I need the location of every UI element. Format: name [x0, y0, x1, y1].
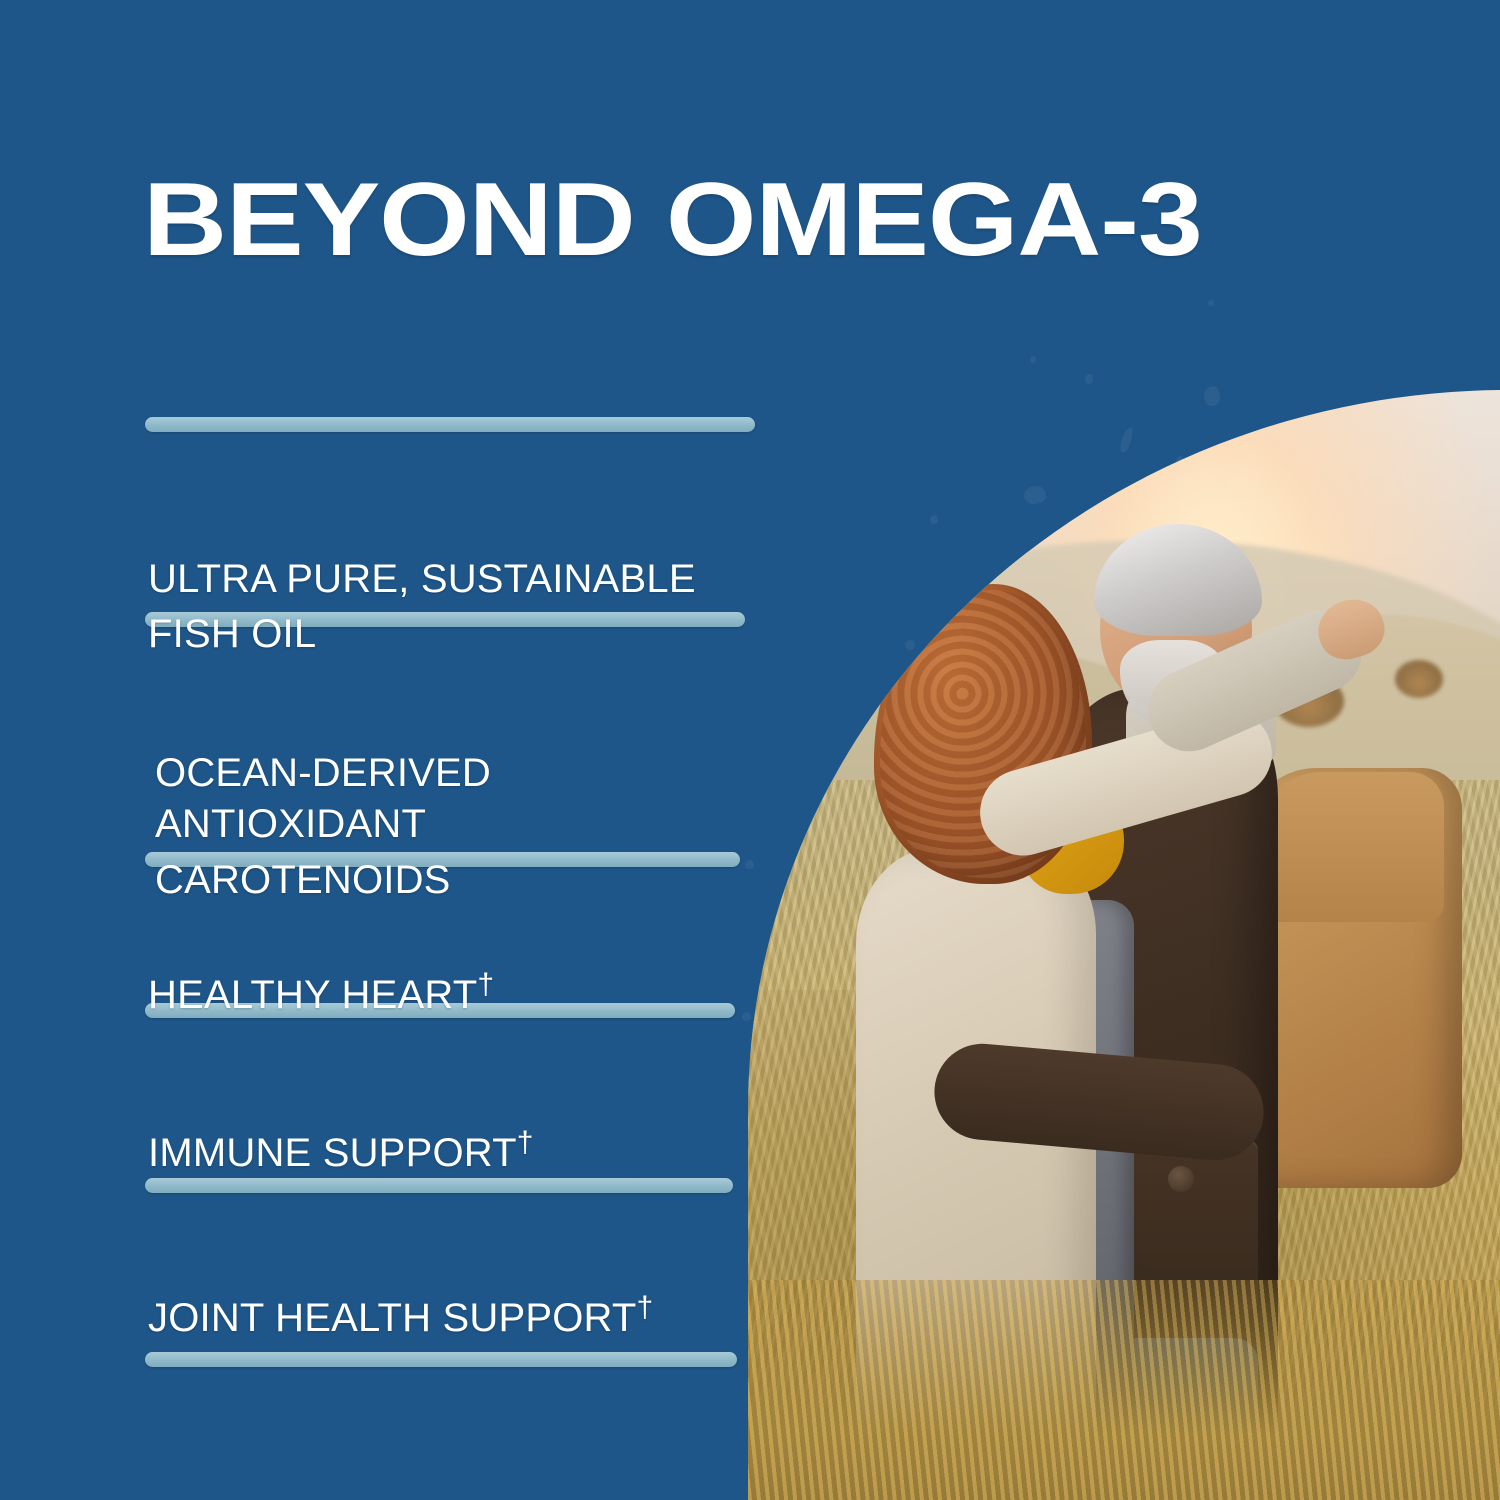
benefit-label: OCEAN-DERIVED ANTIOXIDANT CAROTENOIDS: [155, 751, 491, 901]
dagger-symbol: †: [477, 968, 494, 1001]
benefit-label: ULTRA PURE, SUSTAINABLE FISH OIL: [148, 557, 696, 656]
benefit-label: IMMUNE SUPPORT: [148, 1131, 517, 1175]
content-column: BEYOND OMEGA-3 ULTRA PURE, SUSTAINABLE F…: [0, 0, 760, 1500]
bush: [1395, 660, 1443, 698]
benefit-label: HEALTHY HEART: [148, 973, 477, 1017]
backpack-flap: [1258, 772, 1444, 922]
dagger-symbol: †: [637, 1291, 654, 1324]
benefit-joint-health-support: JOINT HEALTH SUPPORT†: [148, 1238, 653, 1344]
benefit-immune-support: IMMUNE SUPPORT†: [148, 1073, 534, 1179]
photo-arc-clip-lower: [748, 1110, 1500, 1500]
divider-rule-1: [145, 417, 755, 432]
benefit-label: JOINT HEALTH SUPPORT: [148, 1296, 637, 1340]
divider-rule-5: [145, 1178, 733, 1193]
divider-rule-6: [145, 1352, 737, 1367]
photo-artwork-lower: [748, 1110, 1500, 1500]
benefit-healthy-heart: HEALTHY HEART†: [148, 915, 494, 1021]
benefit-ultra-pure-fish-oil: ULTRA PURE, SUSTAINABLE FISH OIL: [148, 503, 760, 661]
dagger-symbol: †: [517, 1126, 534, 1159]
benefit-ocean-derived-carotenoids: OCEAN-DERIVED ANTIOXIDANT CAROTENOIDS: [155, 697, 760, 906]
product-feature-poster: BEYOND OMEGA-3 ULTRA PURE, SUSTAINABLE F…: [0, 0, 1500, 1500]
page-title: BEYOND OMEGA-3: [143, 168, 1202, 272]
